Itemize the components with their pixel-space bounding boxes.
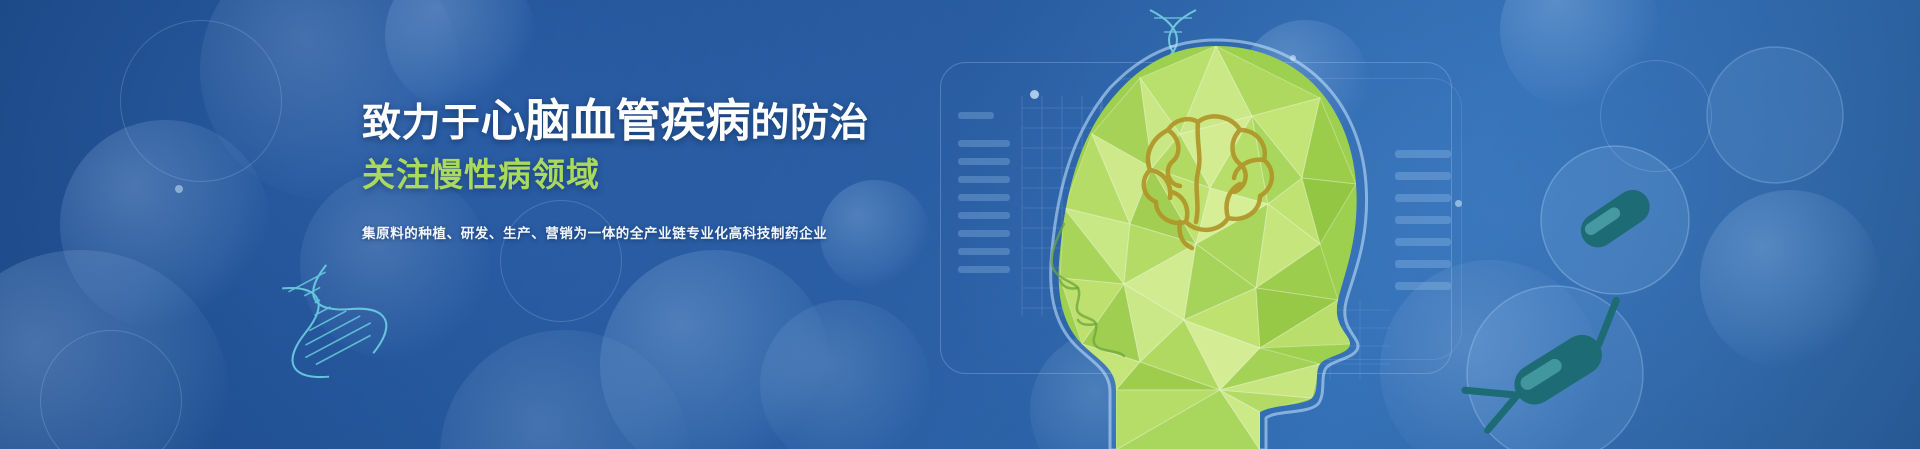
bokeh-dot [1455,200,1462,207]
page-subtitle: 关注慢性病领域 [362,154,1122,195]
dna-helix-icon [278,252,408,362]
headline-prefix: 致力于 [362,102,481,145]
bokeh-circle [40,330,182,449]
bokeh-circle [385,0,535,110]
bokeh-dot [175,185,183,193]
bokeh-circle [440,330,690,449]
bokeh-circle [1500,0,1660,110]
bacteria-flagella-icon [1440,282,1670,449]
hero-copy: 致力于心脑血管疾病的防治 关注慢性病领域 集原料的种植、研发、生产、营销为一体的… [362,96,1122,242]
hero-banner: 致力于心脑血管疾病的防治 关注慢性病领域 集原料的种植、研发、生产、营销为一体的… [0,0,1920,449]
headline-emphasis: 心脑血管疾病 [481,95,751,146]
headline-suffix: 的防治 [751,102,870,145]
bokeh-circle [1700,190,1880,370]
bokeh-circle [600,250,830,449]
bokeh-circle [0,250,230,449]
hud-bar [958,266,1010,273]
hud-bar [958,248,1010,255]
bokeh-circle [120,20,282,182]
bacteria-rod-icon [1530,140,1700,300]
page-tagline: 集原料的种植、研发、生产、营销为一体的全产业链专业化高科技制药企业 [362,222,1122,242]
bokeh-circle [760,300,930,449]
page-title: 致力于心脑血管疾病的防治 [362,96,1122,146]
cell-circle-icon [1700,40,1850,190]
bokeh-circle [60,120,270,330]
